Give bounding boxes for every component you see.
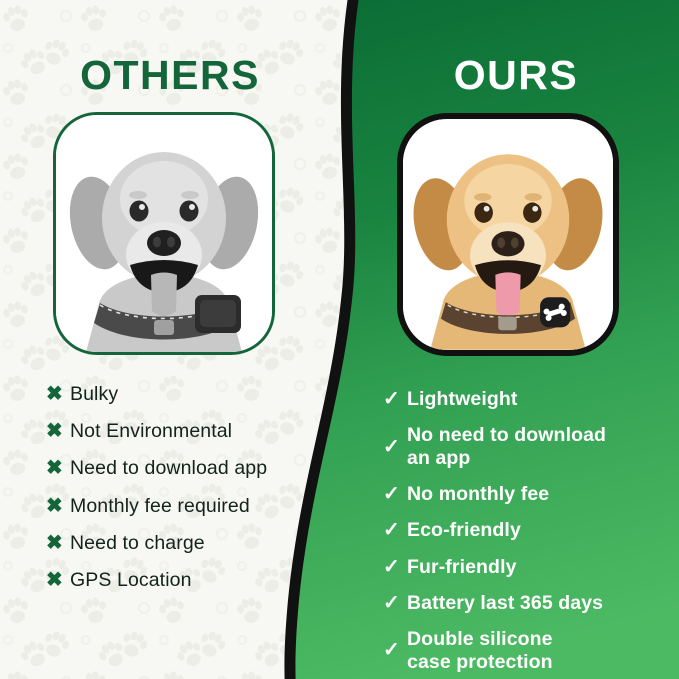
list-item-label-line2: an app — [407, 447, 606, 470]
check-mark-icon: ✓ — [383, 592, 407, 615]
list-item-label-line1: Double silicone — [407, 628, 553, 650]
ours-product-image-frame — [397, 113, 619, 356]
check-mark-icon: ✓ — [383, 639, 407, 662]
list-item-label: Bulky — [70, 383, 118, 406]
list-item: ✓ No monthly fee — [383, 483, 668, 506]
list-item: ✖ Not Environmental — [46, 420, 326, 443]
x-mark-icon: ✖ — [46, 383, 70, 406]
others-title: OTHERS — [0, 55, 340, 96]
x-mark-icon: ✖ — [46, 457, 70, 480]
list-item-label: Fur-friendly — [407, 556, 517, 579]
content-layer: OTHERS OURS — [0, 0, 679, 679]
list-item-label: No need to download an app — [407, 424, 606, 470]
others-dog-photo — [56, 115, 272, 352]
list-item-label: Not Environmental — [70, 420, 232, 443]
ours-feature-list: ✓ Lightweight ✓ No need to download an a… — [383, 388, 668, 679]
others-product-image-frame — [53, 112, 275, 355]
bone-tag-holder — [540, 297, 570, 327]
list-item: ✓ Lightweight — [383, 388, 668, 411]
others-feature-list: ✖ Bulky ✖ Not Environmental ✖ Need to do… — [46, 383, 326, 606]
list-item: ✖ Need to download app — [46, 457, 326, 480]
list-item-label: Need to download app — [70, 457, 267, 480]
list-item: ✓ No need to download an app — [383, 424, 668, 470]
x-mark-icon: ✖ — [46, 420, 70, 443]
list-item-label: Lightweight — [407, 388, 518, 411]
x-mark-icon: ✖ — [46, 532, 70, 555]
list-item: ✖ GPS Location — [46, 569, 326, 592]
check-mark-icon: ✓ — [383, 556, 407, 579]
list-item-label: No monthly fee — [407, 483, 549, 506]
dog-illustration-grayscale — [56, 115, 272, 352]
check-mark-icon: ✓ — [383, 519, 407, 542]
ours-title: OURS — [356, 55, 676, 96]
check-mark-icon: ✓ — [383, 436, 407, 459]
list-item: ✓ Fur-friendly — [383, 556, 668, 579]
x-mark-icon: ✖ — [46, 569, 70, 592]
ours-dog-photo — [403, 119, 613, 350]
list-item: ✓ Battery last 365 days — [383, 592, 668, 615]
list-item: ✓ Double silicone case protection — [383, 628, 668, 674]
list-item-label: Eco-friendly — [407, 519, 521, 542]
list-item-label: Need to charge — [70, 532, 205, 555]
list-item: ✖ Need to charge — [46, 532, 326, 555]
check-mark-icon: ✓ — [383, 483, 407, 506]
list-item: ✓ Eco-friendly — [383, 519, 668, 542]
list-item: ✖ Bulky — [46, 383, 326, 406]
list-item-label-line1: No need to download — [407, 424, 606, 446]
list-item-label: Double silicone case protection — [407, 628, 553, 674]
check-mark-icon: ✓ — [383, 388, 407, 411]
x-mark-icon: ✖ — [46, 495, 70, 518]
list-item-label: Monthly fee required — [70, 495, 250, 518]
list-item: ✖ Monthly fee required — [46, 495, 326, 518]
comparison-infographic: OTHERS OURS — [0, 0, 679, 679]
list-item-label: Battery last 365 days — [407, 592, 603, 615]
list-item-label-line2: case protection — [407, 651, 553, 674]
list-item-label: GPS Location — [70, 569, 192, 592]
dog-illustration-color — [403, 119, 613, 350]
